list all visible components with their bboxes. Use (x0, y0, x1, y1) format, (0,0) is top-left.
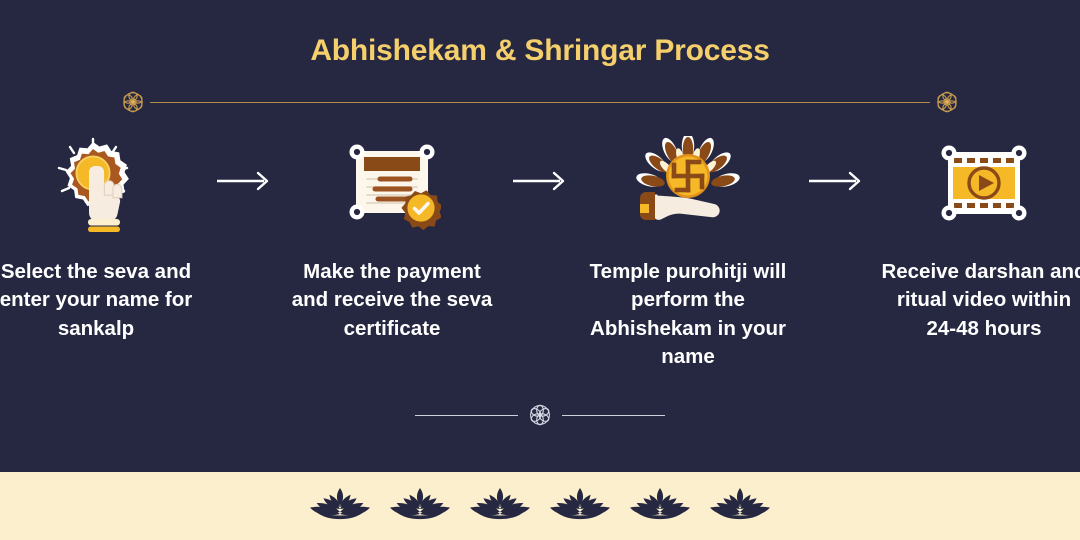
video-film-play-icon (935, 132, 1033, 236)
process-step-label: Temple purohitji will perform the Abhish… (584, 258, 792, 371)
hand-holding-swastika-icon (636, 132, 740, 236)
divider-line (150, 102, 930, 103)
process-step[interactable]: Temple purohitji will perform the Abhish… (579, 132, 797, 371)
bottom-divider (408, 398, 672, 432)
arrow-right-icon (797, 170, 875, 192)
page-title: Abhishekam & Shringar Process (0, 34, 1080, 68)
process-step-label: Select the seva and enter your name for … (0, 258, 200, 343)
divider-line (415, 415, 518, 416)
process-step[interactable]: Receive darshan and ritual video within … (875, 132, 1080, 343)
arrow-right-icon (205, 170, 283, 192)
mandala-rosette-icon (118, 87, 148, 117)
arrow-right-icon (501, 170, 579, 192)
certificate-seal-icon (343, 132, 441, 236)
process-step[interactable]: Select the seva and enter your name for … (0, 132, 205, 343)
process-step-label: Make the payment and receive the seva ce… (288, 258, 496, 343)
tap-hand-sun-icon (48, 132, 144, 236)
process-step[interactable]: Make the payment and receive the seva ce… (283, 132, 501, 343)
process-step-label: Receive darshan and ritual video within … (880, 258, 1080, 343)
mandala-rosette-icon (932, 87, 962, 117)
divider-line (562, 415, 665, 416)
rosette-flower-icon (525, 400, 555, 430)
top-divider (118, 88, 962, 116)
process-steps: Select the seva and enter your name for … (40, 132, 1040, 371)
lotus-border-icon (0, 486, 1080, 526)
